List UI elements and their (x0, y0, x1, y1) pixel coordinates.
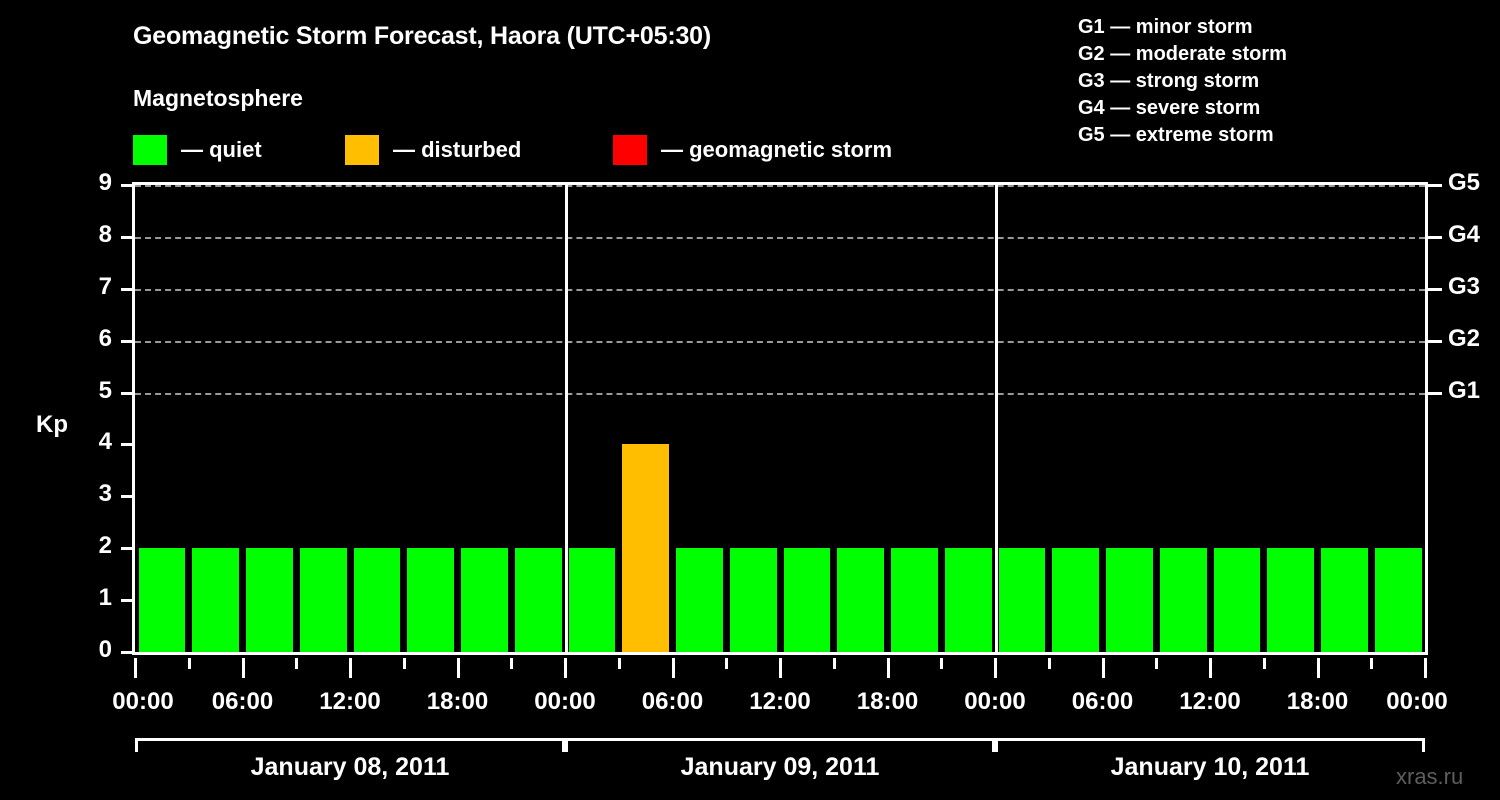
bar (999, 548, 1046, 652)
x-tick-label-2: 12:00 (319, 688, 380, 716)
legend-label-quiet: — quiet (181, 137, 262, 163)
g-tick-label-G5: G5 (1448, 169, 1480, 197)
bar (676, 548, 723, 652)
bar (945, 548, 992, 652)
y-tick-label-7: 7 (72, 273, 112, 301)
x-tick-label-4: 00:00 (534, 688, 595, 716)
y-tick-9 (121, 184, 132, 187)
y-tick-8 (121, 236, 132, 239)
date-bracket-1 (135, 738, 565, 752)
plot-area (132, 182, 1428, 655)
x-tick-12h (349, 658, 352, 678)
legend-item-quiet: — quiet (133, 134, 262, 166)
bar (1321, 548, 1368, 652)
date-label-1: January 08, 2011 (251, 753, 450, 782)
x-tick-label-7: 18:00 (857, 688, 918, 716)
bar (622, 444, 669, 652)
x-tick-3h (188, 658, 191, 669)
x-tick-18h (457, 658, 460, 678)
y-tick-4 (121, 443, 132, 446)
g-scale-entry-3: G3 — strong storm (1078, 68, 1287, 95)
y-tick-label-5: 5 (72, 377, 112, 405)
chart-page: Geomagnetic Storm Forecast, Haora (UTC+0… (0, 0, 1500, 800)
bar (730, 548, 777, 652)
y-tick-5 (121, 392, 132, 395)
legend-item-disturbed: — disturbed (345, 134, 521, 166)
y-tick-label-3: 3 (72, 480, 112, 508)
legend-label-disturbed: — disturbed (393, 137, 521, 163)
x-tick-36h (779, 658, 782, 678)
x-tick-21h (510, 658, 513, 669)
x-tick-label-5: 06:00 (642, 688, 703, 716)
y-tick-7 (121, 288, 132, 291)
legend-swatch-geomagnetic-storm (613, 135, 647, 165)
g-scale-entry-2: G2 — moderate storm (1078, 41, 1287, 68)
y-axis-title: Kp (36, 411, 68, 439)
x-tick-label-0: 00:00 (112, 688, 173, 716)
x-tick-30h (672, 658, 675, 678)
x-tick-51h (1048, 658, 1051, 669)
bar (1214, 548, 1261, 652)
x-tick-0h (134, 658, 137, 678)
bar (192, 548, 239, 652)
x-tick-label-10: 12:00 (1179, 688, 1240, 716)
bar (891, 548, 938, 652)
date-bracket-3 (995, 738, 1425, 752)
x-tick-60h (1209, 658, 1212, 678)
y-tick-label-9: 9 (72, 169, 112, 197)
y-tick-1 (121, 599, 132, 602)
x-tick-label-8: 00:00 (964, 688, 1025, 716)
bar (784, 548, 831, 652)
y-tick-label-8: 8 (72, 221, 112, 249)
bar (354, 548, 401, 652)
y-tick-6 (121, 340, 132, 343)
x-tick-label-12: 00:00 (1386, 688, 1447, 716)
g-tick-G1 (1428, 392, 1442, 395)
g-tick-G4 (1428, 236, 1442, 239)
y-tick-2 (121, 547, 132, 550)
g-tick-G2 (1428, 340, 1442, 343)
y-tick-label-2: 2 (72, 532, 112, 560)
legend-item-geomagnetic-storm: — geomagnetic storm (613, 134, 892, 166)
bar-series (135, 185, 1425, 652)
g-tick-label-G4: G4 (1448, 221, 1480, 249)
bar (837, 548, 884, 652)
x-tick-66h (1317, 658, 1320, 678)
x-tick-24h (564, 658, 567, 678)
bar (407, 548, 454, 652)
y-tick-label-6: 6 (72, 325, 112, 353)
x-tick-45h (940, 658, 943, 669)
g-tick-G5 (1428, 184, 1442, 187)
bar (569, 548, 616, 652)
x-tick-label-3: 18:00 (427, 688, 488, 716)
x-tick-48h (994, 658, 997, 678)
legend-swatch-disturbed (345, 135, 379, 165)
x-tick-72h (1424, 658, 1427, 678)
x-tick-9h (295, 658, 298, 669)
date-label-2: January 09, 2011 (681, 753, 880, 782)
x-tick-39h (833, 658, 836, 669)
date-label-3: January 10, 2011 (1111, 753, 1310, 782)
bar (1375, 548, 1422, 652)
g-tick-G3 (1428, 288, 1442, 291)
y-tick-label-1: 1 (72, 584, 112, 612)
x-tick-57h (1155, 658, 1158, 669)
x-tick-42h (887, 658, 890, 678)
magnetosphere-label: Magnetosphere (133, 85, 303, 112)
g-tick-label-G1: G1 (1448, 377, 1480, 405)
y-tick-3 (121, 495, 132, 498)
bar (515, 548, 562, 652)
watermark: xras.ru (1396, 764, 1463, 790)
g-scale-entry-4: G4 — severe storm (1078, 95, 1287, 122)
g-scale-entry-5: G5 — extreme storm (1078, 122, 1287, 149)
y-tick-label-4: 4 (72, 428, 112, 456)
g-tick-label-G3: G3 (1448, 273, 1480, 301)
bar (1267, 548, 1314, 652)
y-tick-label-0: 0 (72, 636, 112, 664)
x-tick-15h (403, 658, 406, 669)
legend-swatch-quiet (133, 135, 167, 165)
x-tick-label-11: 18:00 (1287, 688, 1348, 716)
bar (1106, 548, 1153, 652)
x-tick-54h (1102, 658, 1105, 678)
x-tick-69h (1370, 658, 1373, 669)
g-scale-entry-1: G1 — minor storm (1078, 14, 1287, 41)
x-tick-label-9: 06:00 (1072, 688, 1133, 716)
x-tick-63h (1263, 658, 1266, 669)
bar (246, 548, 293, 652)
x-tick-label-1: 06:00 (212, 688, 273, 716)
bar (300, 548, 347, 652)
bar (1160, 548, 1207, 652)
g-scale-legend: G1 — minor stormG2 — moderate stormG3 — … (1078, 14, 1287, 149)
x-tick-6h (242, 658, 245, 678)
date-bracket-2 (565, 738, 995, 752)
x-tick-33h (725, 658, 728, 669)
y-tick-0 (121, 651, 132, 654)
page-title: Geomagnetic Storm Forecast, Haora (UTC+0… (133, 22, 711, 51)
bar (1052, 548, 1099, 652)
bar (139, 548, 186, 652)
x-tick-label-6: 12:00 (749, 688, 810, 716)
g-tick-label-G2: G2 (1448, 325, 1480, 353)
bar (461, 548, 508, 652)
x-tick-27h (618, 658, 621, 669)
legend-label-geomagnetic-storm: — geomagnetic storm (661, 137, 892, 163)
